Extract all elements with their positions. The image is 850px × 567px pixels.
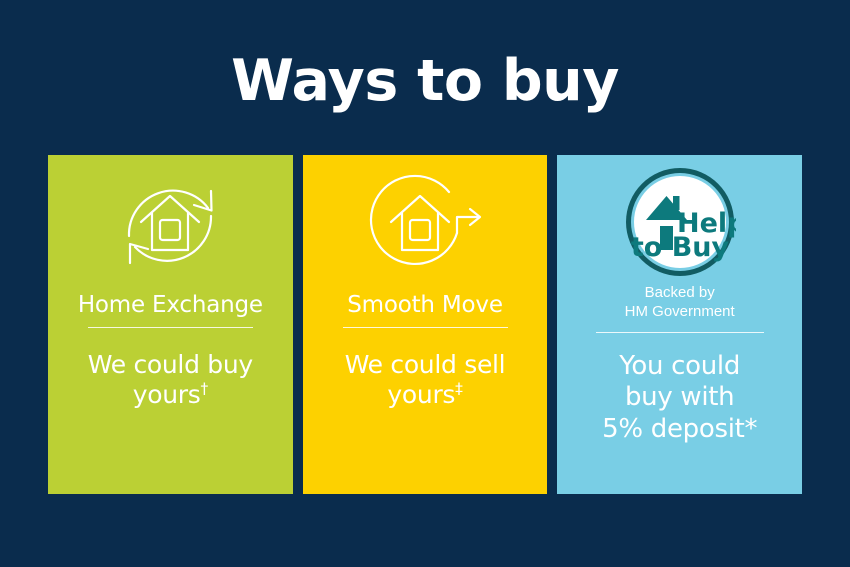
card-body-line-2: yours [387,380,455,409]
card-footnote-symbol: ‡ [455,379,462,397]
page-title: Ways to buy [0,52,850,112]
card-body-line-2: buy with [625,382,734,412]
card-home-exchange[interactable]: Home Exchange We could buy yours† [48,155,293,494]
card-footnote-symbol: † [200,379,207,397]
card-body: We could sell yours‡ [329,350,522,409]
house-circular-exchange-arrows-icon [48,155,293,283]
card-smooth-move[interactable]: Smooth Move We could sell yours‡ [303,155,548,494]
card-body: You could buy with 5% deposit* [586,351,773,446]
card-divider [596,332,764,333]
card-heading: Home Exchange [78,283,263,318]
card-subheading-line-1: Backed by [645,284,715,301]
card-heading: Smooth Move [347,283,503,318]
card-divider [343,327,508,328]
card-body-line-1: We could sell [345,350,506,379]
card-body-line-3: 5% deposit [602,414,744,444]
card-subheading-line-2: HM Government [625,303,735,320]
card-body-line-1: You could [619,351,740,381]
card-body: We could buy yours† [72,350,269,409]
logo-text-to-buy: to Buy [631,232,730,263]
card-subheading: Backed by HM Government [625,279,735,322]
cards-row: Home Exchange We could buy yours† [48,155,802,494]
help-to-buy-badge-icon: Help to Buy [557,155,802,279]
card-body-line-2: yours [133,380,201,409]
ways-to-buy-poster: Ways to buy Home Exchange [0,0,850,567]
card-help-to-buy[interactable]: Help to Buy Backed by HM Government You … [557,155,802,494]
card-body-line-1: We could buy [88,350,253,379]
house-circle-outgoing-arrow-icon [303,155,548,283]
card-divider [88,327,253,328]
card-footnote-symbol: * [745,414,758,444]
